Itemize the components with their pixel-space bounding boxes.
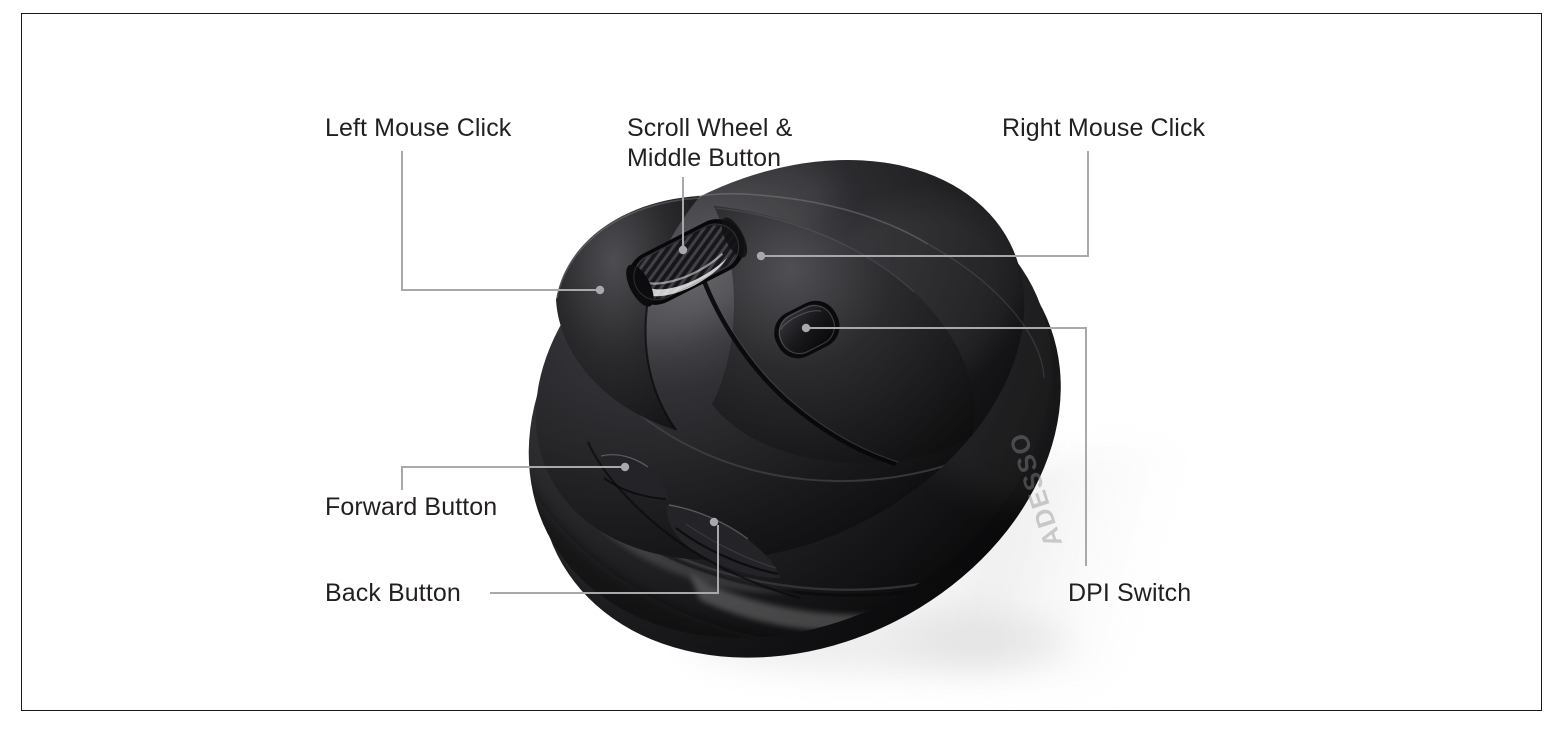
callout-label-back-button: Back Button (325, 578, 461, 608)
callout-label-scroll-wheel-line2: Middle Button (627, 144, 781, 172)
callout-label-scroll-wheel-line1: Scroll Wheel & (627, 114, 792, 142)
callout-label-dpi-switch: DPI Switch (1068, 578, 1191, 608)
dot-back-button (710, 518, 718, 526)
callout-label-forward-button: Forward Button (325, 492, 497, 522)
dot-scroll-wheel (679, 246, 687, 254)
mouse-illustration: ADESSO (0, 0, 1561, 729)
dot-right-mouse-click (757, 252, 765, 260)
callout-label-scroll-wheel: Scroll Wheel &Middle Button (627, 113, 792, 173)
figure-canvas: ADESSO Left Mouse Clic (0, 0, 1561, 729)
callout-label-right-mouse-click: Right Mouse Click (1002, 113, 1205, 143)
callout-label-left-mouse-click: Left Mouse Click (325, 113, 511, 143)
dot-dpi-switch (802, 324, 810, 332)
dot-forward-button (621, 463, 629, 471)
dot-left-mouse-click (596, 286, 604, 294)
